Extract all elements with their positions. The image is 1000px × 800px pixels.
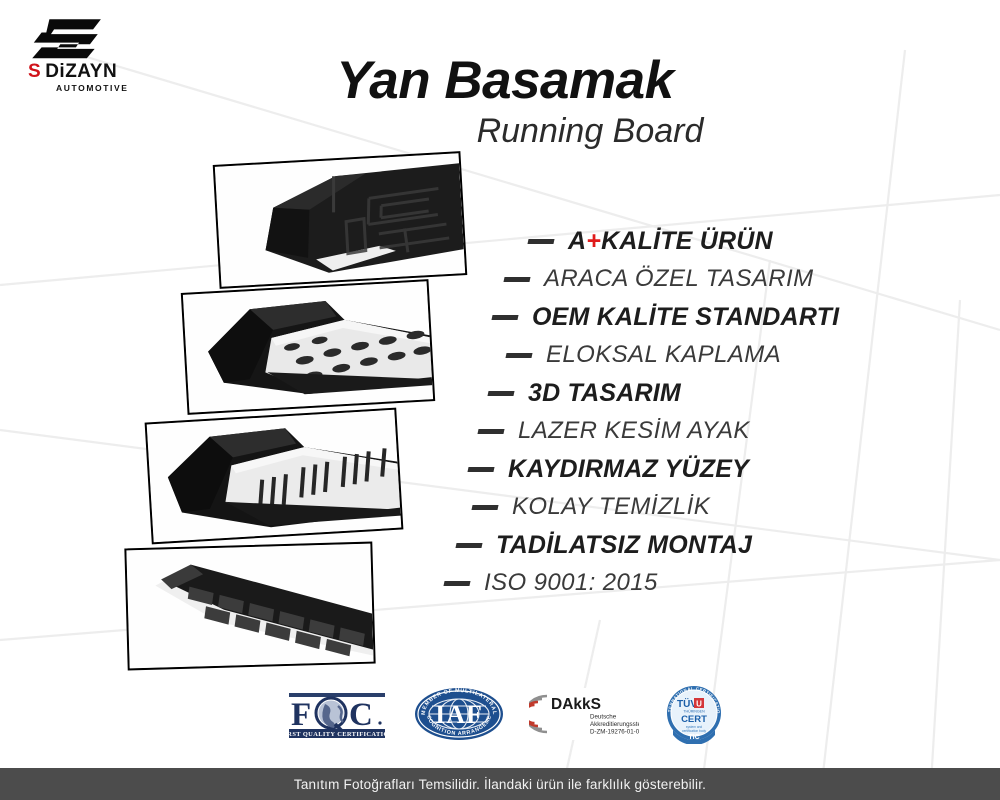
dash-icon bbox=[505, 353, 532, 358]
feature-item: KOLAY TEMİZLİK bbox=[430, 488, 930, 526]
badge-iaf: IAF MEMBER OF MULTILATERAL RECOGNITION A… bbox=[413, 685, 505, 743]
dash-icon bbox=[487, 391, 514, 396]
badge-dakks: DAkkS Deutsche Akkreditierungsstelle D-Z… bbox=[529, 685, 639, 743]
svg-text:F: F bbox=[291, 697, 311, 733]
feature-item: A+KALİTE ÜRÜN bbox=[430, 222, 930, 260]
dash-icon bbox=[491, 315, 518, 320]
svg-text:CERT: CERT bbox=[681, 714, 707, 725]
svg-text:D-ZM-19276-01-00: D-ZM-19276-01-00 bbox=[590, 729, 639, 736]
svg-text:certification body: certification body bbox=[682, 729, 706, 733]
feature-item: TADİLATSIZ MONTAJ bbox=[430, 526, 930, 564]
fqc-logo-icon: F C FIRST QUALITY CERTIFICATION bbox=[285, 687, 389, 741]
dakks-logo-icon: DAkkS Deutsche Akkreditierungsstelle D-Z… bbox=[529, 688, 639, 740]
feature-list: A+KALİTE ÜRÜN ARACA ÖZEL TASARIM OEM KAL… bbox=[430, 222, 930, 602]
feature-item: LAZER KESİM AYAK bbox=[430, 412, 930, 450]
feature-label: LAZER KESİM AYAK bbox=[518, 419, 750, 443]
svg-text:U: U bbox=[696, 700, 702, 709]
product-photo-3 bbox=[145, 408, 404, 545]
svg-text:C: C bbox=[349, 697, 373, 733]
feature-label: KAYDIRMAZ YÜZEY bbox=[508, 457, 749, 482]
dash-icon bbox=[503, 277, 530, 282]
poster-canvas: S DiZAYN AUTOMOTIVE Yan Basamak Running … bbox=[0, 0, 1000, 800]
feature-label: ARACA ÖZEL TASARIM bbox=[544, 267, 813, 291]
product-photo-4 bbox=[124, 542, 375, 671]
dash-icon bbox=[455, 543, 482, 548]
dash-icon bbox=[467, 467, 494, 472]
feature-label: KOLAY TEMİZLİK bbox=[512, 495, 710, 519]
svg-text:Akkreditierungsstelle: Akkreditierungsstelle bbox=[590, 721, 639, 728]
product-photo-2 bbox=[181, 279, 435, 415]
badge-fqc: F C FIRST QUALITY CERTIFICATION bbox=[285, 685, 389, 743]
iaf-logo-icon: IAF MEMBER OF MULTILATERAL RECOGNITION A… bbox=[413, 686, 505, 742]
svg-text:THÜRINGEN: THÜRINGEN bbox=[683, 710, 705, 714]
feature-item: KAYDIRMAZ YÜZEY bbox=[430, 450, 930, 488]
feature-item: 3D TASARIM bbox=[430, 374, 930, 412]
dash-icon bbox=[471, 505, 498, 510]
feature-label: 3D TASARIM bbox=[528, 381, 681, 406]
dash-icon bbox=[527, 239, 554, 244]
feature-item: ISO 9001: 2015 bbox=[430, 564, 930, 602]
feature-item: ARACA ÖZEL TASARIM bbox=[430, 260, 930, 298]
dash-icon bbox=[443, 581, 470, 586]
feature-item: OEM KALİTE STANDARTI bbox=[430, 298, 930, 336]
svg-text:Deutsche: Deutsche bbox=[590, 714, 617, 721]
certification-badges: F C FIRST QUALITY CERTIFICATION bbox=[285, 683, 725, 745]
footer-disclaimer-bar: Tanıtım Fotoğrafları Temsilidir. İlandak… bbox=[0, 768, 1000, 800]
svg-text:DAkkS: DAkkS bbox=[551, 696, 601, 713]
svg-text:TIC: TIC bbox=[688, 734, 699, 741]
feature-label: ELOKSAL KAPLAMA bbox=[546, 343, 781, 367]
tuv-cert-seal-icon: INTERNATIONAL CERTIFICATION TÜV U THÜRIN… bbox=[663, 684, 725, 744]
svg-text:IAF: IAF bbox=[435, 700, 483, 729]
feature-label: TADİLATSIZ MONTAJ bbox=[496, 533, 752, 558]
feature-label: ISO 9001: 2015 bbox=[484, 571, 658, 595]
badge-tuv: INTERNATIONAL CERTIFICATION TÜV U THÜRIN… bbox=[663, 685, 725, 743]
dash-icon bbox=[477, 429, 504, 434]
svg-text:FIRST QUALITY CERTIFICATION: FIRST QUALITY CERTIFICATION bbox=[285, 731, 389, 738]
feature-item: ELOKSAL KAPLAMA bbox=[430, 336, 930, 374]
plus-accent: + bbox=[586, 227, 601, 255]
footer-disclaimer-text: Tanıtım Fotoğrafları Temsilidir. İlandak… bbox=[294, 777, 706, 792]
feature-label: OEM KALİTE STANDARTI bbox=[532, 305, 839, 330]
feature-label: A+KALİTE ÜRÜN bbox=[568, 229, 773, 254]
